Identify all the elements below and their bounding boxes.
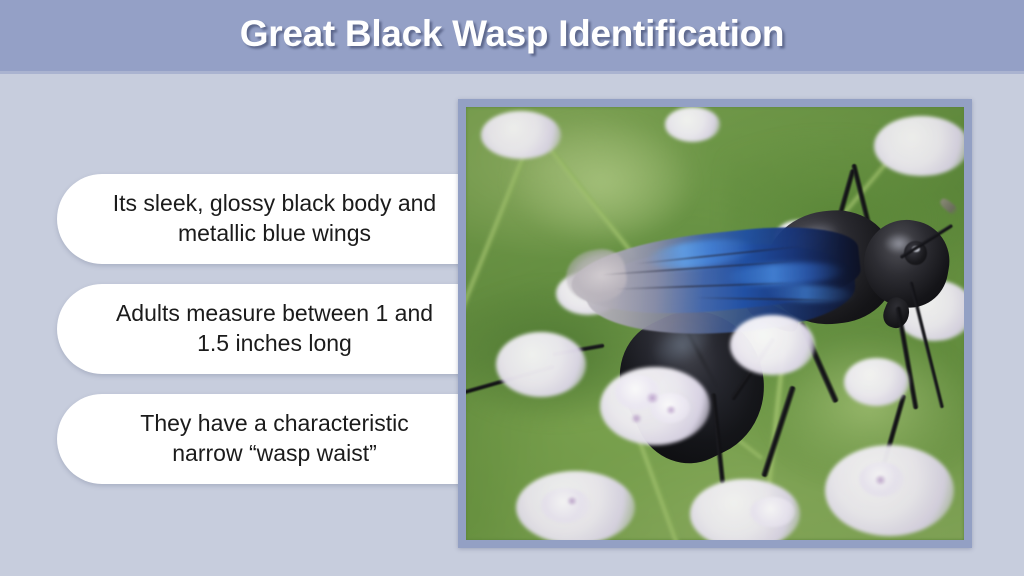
bullet-pill-1: Its sleek, glossy black body and metalli… <box>57 174 462 264</box>
picture-frame <box>458 99 972 548</box>
header-band-divider <box>0 71 1024 74</box>
antenna-tip <box>939 197 960 216</box>
bullet-text-1: Its sleek, glossy black body and metalli… <box>105 189 444 249</box>
bullet-pill-2: Adults measure between 1 and 1.5 inches … <box>57 284 462 374</box>
slide-canvas: Great Black Wasp Identification Its slee… <box>0 0 1024 576</box>
bullet-text-2: Adults measure between 1 and 1.5 inches … <box>105 299 444 359</box>
petal-speck <box>874 475 887 485</box>
wasp-photo <box>466 107 964 540</box>
bullet-text-3: They have a characteristic narrow “wasp … <box>105 409 444 469</box>
page-title: Great Black Wasp Identification <box>0 13 1024 55</box>
leg-icon <box>760 385 796 478</box>
mint-flower-cluster <box>730 315 815 376</box>
bullet-pill-3: They have a characteristic narrow “wasp … <box>57 394 462 484</box>
mint-flower-cluster <box>496 332 586 397</box>
floret-icon <box>750 497 795 527</box>
mint-flower-cluster <box>844 358 909 406</box>
floret-icon <box>541 488 591 523</box>
petal-speck <box>566 497 578 506</box>
